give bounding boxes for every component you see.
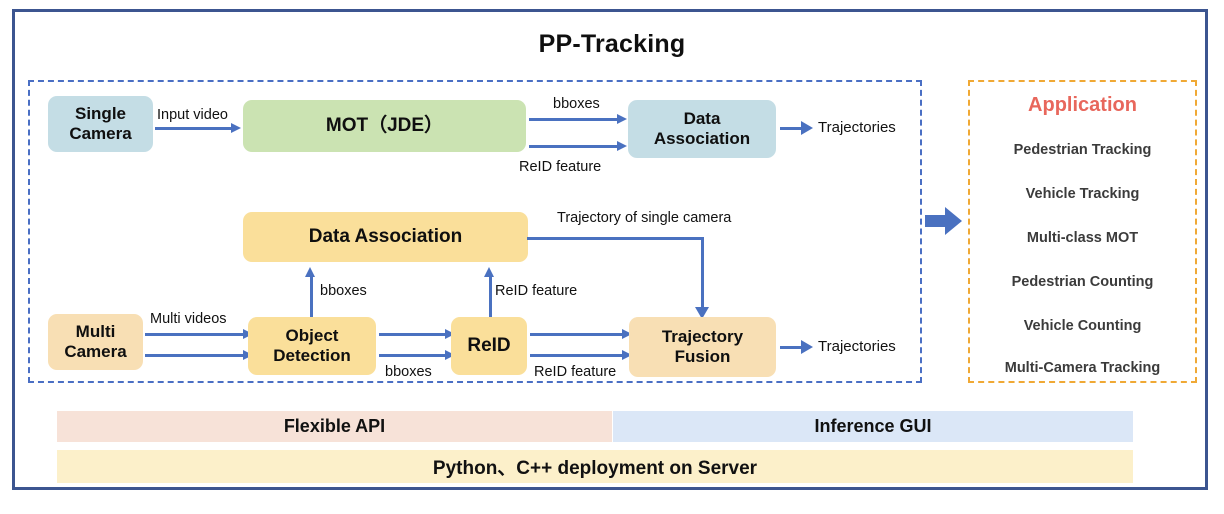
arrow-mot-reid-head xyxy=(617,141,627,151)
bar-flexible-api[interactable]: Flexible API xyxy=(57,411,612,442)
edge-label-trajectory-single-camera: Trajectory of single camera xyxy=(557,210,731,226)
node-data-association-top-line2: Association xyxy=(654,129,750,149)
application-item-multi-camera-tracking[interactable]: Multi-Camera Tracking xyxy=(970,360,1195,376)
arrow-single-camera-to-mot-line xyxy=(155,127,233,130)
arrow-single-camera-to-mot-head xyxy=(231,123,241,133)
arrow-mot-reid-line xyxy=(529,145,619,148)
node-data-association-mid[interactable]: Data Association xyxy=(243,212,528,262)
application-title: Application xyxy=(970,94,1195,117)
node-trajectory-fusion[interactable]: Trajectory Fusion xyxy=(629,317,776,377)
edge-label-bboxes-top: bboxes xyxy=(553,96,600,112)
arrow-detect-to-assoc-head xyxy=(305,267,315,277)
node-multi-camera-line1: Multi xyxy=(76,322,116,342)
node-reid[interactable]: ReID xyxy=(451,317,527,375)
node-data-association-top[interactable]: Data Association xyxy=(628,100,776,158)
application-item-pedestrian-counting[interactable]: Pedestrian Counting xyxy=(970,274,1195,290)
node-object-detection[interactable]: Object Detection xyxy=(248,317,376,375)
edge-label-bboxes-up: bboxes xyxy=(320,283,367,299)
node-data-association-top-line1: Data xyxy=(684,109,721,129)
edge-label-input-video: Input video xyxy=(157,107,228,123)
node-single-camera-line1: Single xyxy=(75,104,126,124)
node-single-camera[interactable]: Single Camera xyxy=(48,96,153,152)
arrow-mot-bboxes-line xyxy=(529,118,619,121)
node-mot-jde[interactable]: MOT（JDE） xyxy=(243,100,526,152)
arrow-reid-to-assoc-head xyxy=(484,267,494,277)
arrow-reid-to-assoc-line xyxy=(489,275,492,317)
node-trajectory-fusion-line2: Fusion xyxy=(675,347,731,367)
elbow-assoc-to-fusion-horizontal xyxy=(527,237,704,240)
bar-inference-gui[interactable]: Inference GUI xyxy=(613,411,1133,442)
application-item-vehicle-tracking[interactable]: Vehicle Tracking xyxy=(970,186,1195,202)
arrow-mot-bboxes-head xyxy=(617,114,627,124)
arrow-detect-to-reid-line-1 xyxy=(379,333,447,336)
bar-deployment[interactable]: Python、C++ deployment on Server xyxy=(57,450,1133,483)
application-item-pedestrian-tracking[interactable]: Pedestrian Tracking xyxy=(970,142,1195,158)
arrow-multi-camera-to-detect-line-1 xyxy=(145,333,245,336)
edge-label-reid-feature-up: ReID feature xyxy=(495,283,577,299)
block-arrow-to-application xyxy=(925,206,963,236)
node-multi-camera[interactable]: Multi Camera xyxy=(48,314,143,370)
application-item-multi-class-mot[interactable]: Multi-class MOT xyxy=(970,230,1195,246)
node-object-detection-line1: Object xyxy=(286,326,339,346)
edge-label-multi-videos: Multi videos xyxy=(150,311,227,327)
arrow-reid-to-fusion-line-1 xyxy=(530,333,624,336)
edge-label-reid-feature-top: ReID feature xyxy=(519,159,601,175)
elbow-assoc-to-fusion-vertical xyxy=(701,237,704,309)
arrow-detect-to-assoc-line xyxy=(310,275,313,317)
arrow-reid-to-fusion-line-2 xyxy=(530,354,624,357)
edge-label-trajectories-top: Trajectories xyxy=(818,119,896,136)
node-object-detection-line2: Detection xyxy=(273,346,350,366)
arrow-top-output-head xyxy=(801,121,813,135)
diagram-canvas: PP-Tracking Single Camera Input video MO… xyxy=(0,0,1224,514)
node-single-camera-line2: Camera xyxy=(69,124,131,144)
application-panel: Application Pedestrian Tracking Vehicle … xyxy=(968,80,1197,383)
edge-label-bboxes-bottom: bboxes xyxy=(385,364,432,380)
node-multi-camera-line2: Camera xyxy=(64,342,126,362)
arrow-multi-camera-to-detect-line-2 xyxy=(145,354,245,357)
arrow-detect-to-reid-line-2 xyxy=(379,354,447,357)
arrow-bottom-output-head xyxy=(801,340,813,354)
edge-label-reid-feature-bottom: ReID feature xyxy=(534,364,616,380)
page-title: PP-Tracking xyxy=(0,30,1224,59)
edge-label-trajectories-bottom: Trajectories xyxy=(818,338,896,355)
node-trajectory-fusion-line1: Trajectory xyxy=(662,327,743,347)
application-item-vehicle-counting[interactable]: Vehicle Counting xyxy=(970,318,1195,334)
